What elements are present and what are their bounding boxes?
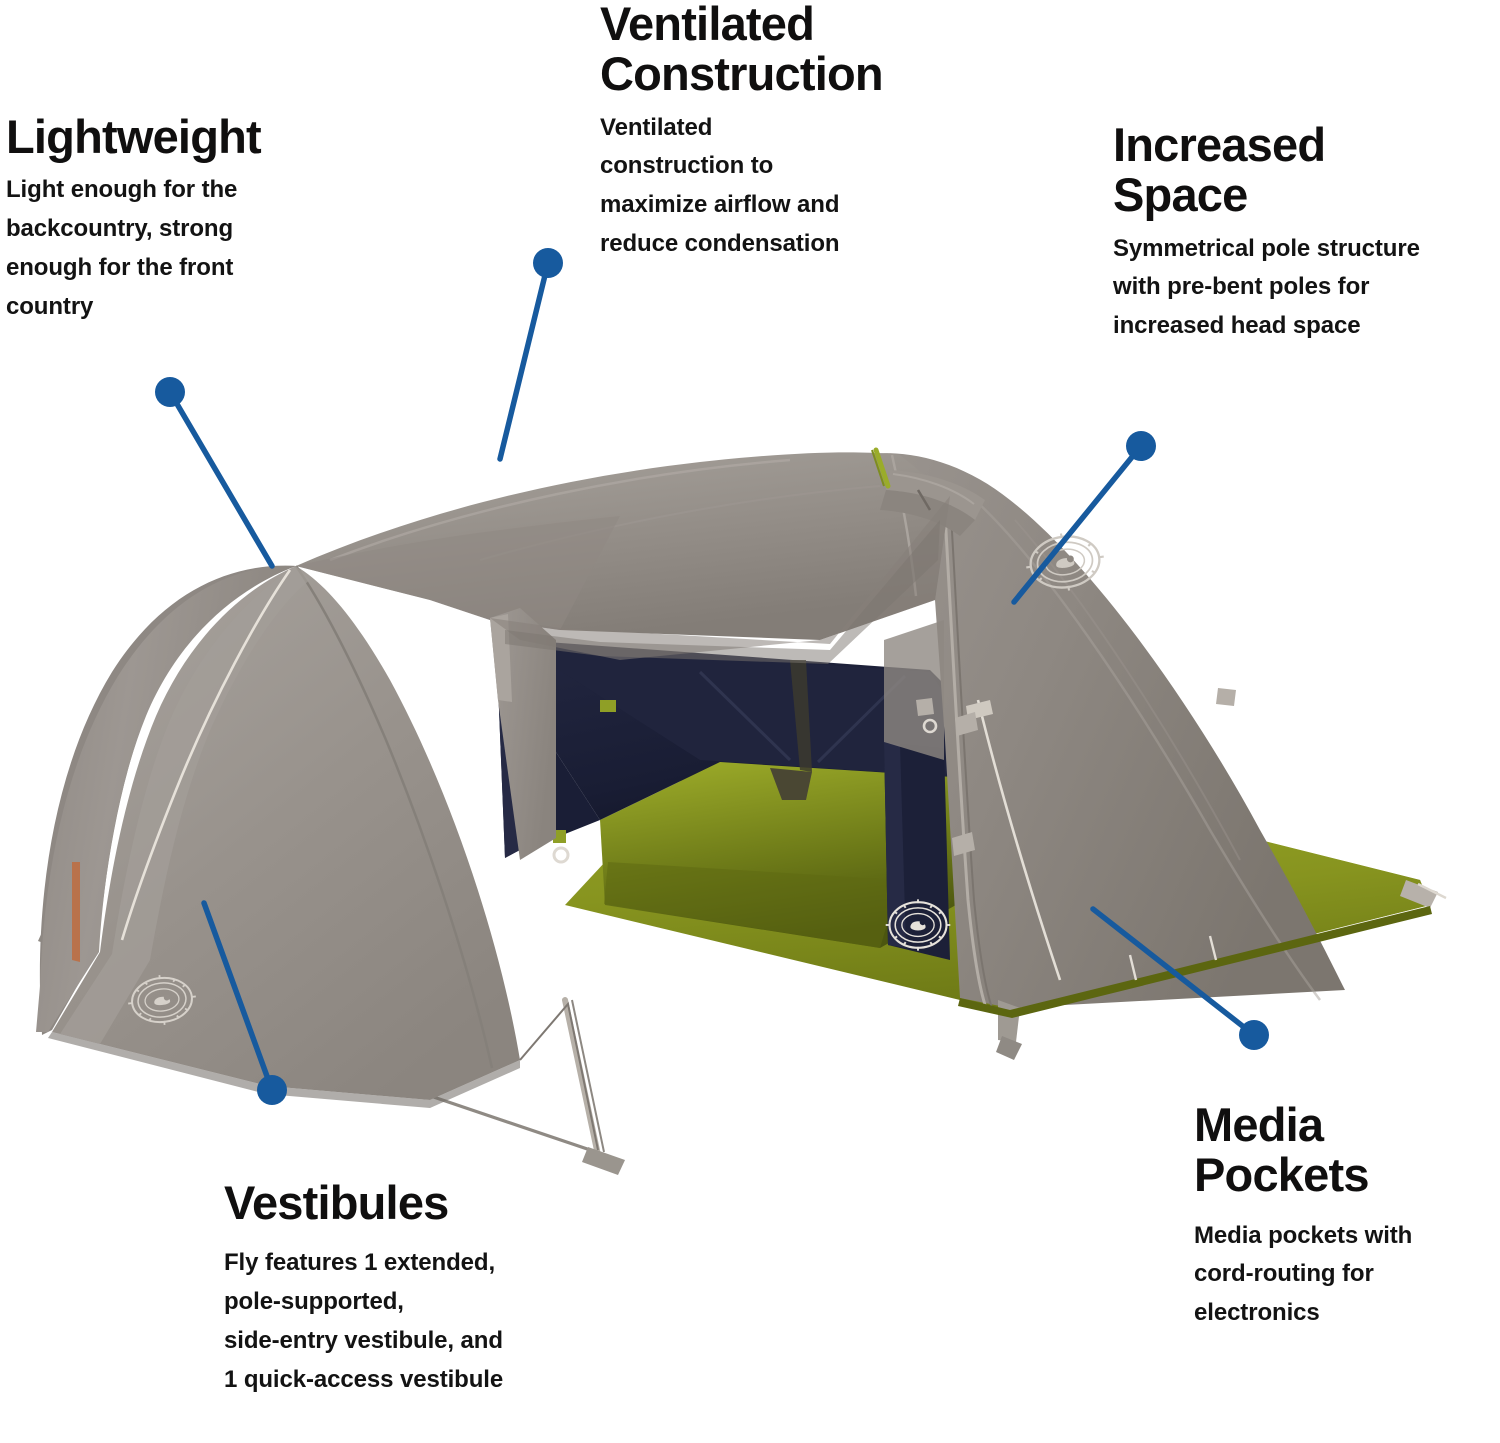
callout-body-vestibules: Fly features 1 extended, pole-supported,… — [224, 1244, 644, 1400]
inner-door-right-panel — [884, 742, 950, 960]
callout-vestibules: Vestibules Fly features 1 extended, pole… — [224, 1178, 644, 1400]
callout-title-ventilated-construction: Ventilated Construction — [600, 0, 1020, 100]
callout-title-increased-space: Increased Space — [1113, 120, 1500, 221]
callout-lightweight: Lightweight Light enough for the backcou… — [6, 112, 406, 327]
callout-body-media-pockets: Media pockets with cord-routing for elec… — [1194, 1217, 1494, 1334]
callout-title-lightweight: Lightweight — [6, 112, 406, 162]
callout-ventilated-construction: Ventilated Construction Ventilated const… — [600, 0, 1020, 264]
callout-increased-space: Increased Space Symmetrical pole structu… — [1113, 120, 1500, 346]
callout-title-vestibules: Vestibules — [224, 1178, 644, 1228]
callout-media-pockets: Media Pockets Media pockets with cord-ro… — [1194, 1100, 1494, 1333]
callout-body-ventilated-construction: Ventilated construction to maximize airf… — [600, 109, 1020, 265]
feature-callout-page: Lightweight Light enough for the backcou… — [0, 0, 1500, 1443]
callout-body-lightweight: Light enough for the backcountry, strong… — [6, 171, 406, 327]
callout-body-increased-space: Symmetrical pole structure with pre-bent… — [1113, 230, 1500, 347]
callout-title-media-pockets: Media Pockets — [1194, 1100, 1494, 1201]
